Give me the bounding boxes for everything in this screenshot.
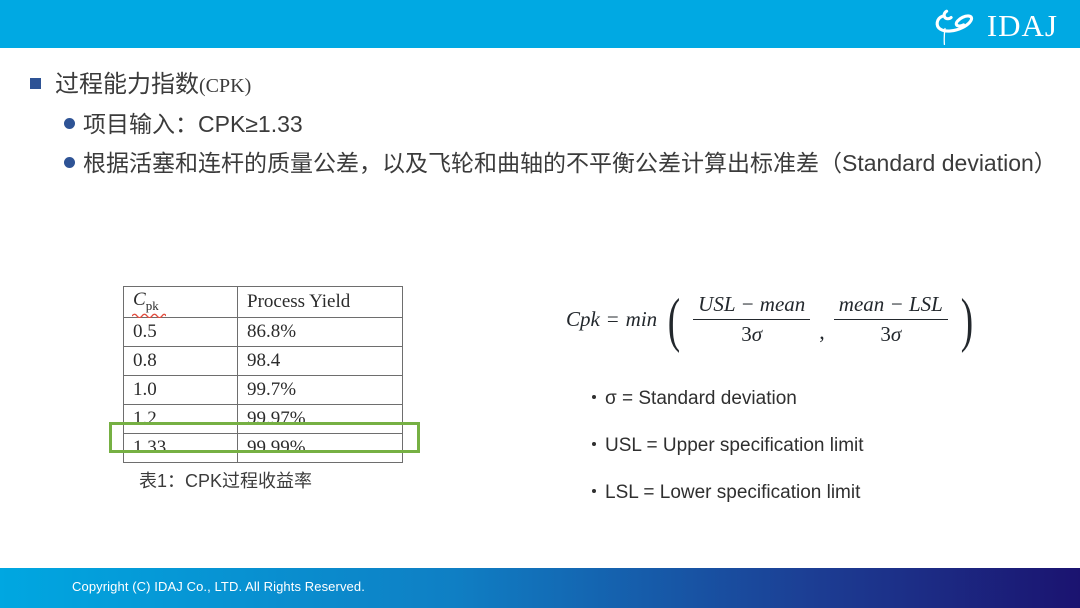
formula-term2-den-sigma: σ <box>891 322 901 346</box>
round-bullet-icon <box>64 157 75 168</box>
table-header-cpk: Cpk <box>124 287 238 318</box>
bullet-level1-label: 过程能力指数(CPK) <box>55 70 251 100</box>
formula-fraction-2: mean − LSL 3σ <box>834 292 948 347</box>
idaj-logo: IDAJ <box>933 6 1058 46</box>
cell-cpk-2: 0.8 <box>124 346 238 375</box>
table-row: 1.2 99.97% <box>124 404 403 433</box>
bullet-level2-label-2: 根据活塞和连杆的质量公差，以及飞轮和曲轴的不平衡公差计算出标准差（Standar… <box>83 147 1057 180</box>
formula-term1-den-sigma: σ <box>752 322 762 346</box>
legend-item-lsl: LSL = Lower specification limit <box>592 482 864 504</box>
logo-wordmark: IDAJ <box>987 10 1058 43</box>
table-row: 1.0 99.7% <box>124 375 403 404</box>
header-bar <box>0 0 1080 48</box>
legend-label-lsl: LSL = Lower specification limit <box>605 482 860 504</box>
cell-yield-3: 99.7% <box>238 375 403 404</box>
bullet-list: 过程能力指数(CPK) 项目输入：CPK≥1.33 根据活塞和连杆的质量公差，以… <box>30 70 1060 187</box>
legend-item-usl: USL = Upper specification limit <box>592 435 864 457</box>
formula-legend: σ = Standard deviation USL = Upper speci… <box>592 388 864 529</box>
cell-yield-4: 99.97% <box>238 404 403 433</box>
square-bullet-icon <box>30 78 41 89</box>
table-header-row: Cpk Process Yield <box>124 287 403 318</box>
formula-comma: , <box>819 319 825 347</box>
cpk-formula: Cpk = min ( USL − mean 3σ , mean − LSL 3… <box>566 292 977 347</box>
bullet-level1-text: 过程能力指数 <box>55 71 199 98</box>
cell-yield-2: 98.4 <box>238 346 403 375</box>
legend-label-sigma: σ = Standard deviation <box>605 388 797 410</box>
formula-term2-denominator: 3σ <box>880 320 901 347</box>
legend-item-sigma: σ = Standard deviation <box>592 388 864 410</box>
bullet-level2-item-1: 项目输入：CPK≥1.33 <box>64 108 1060 141</box>
bullet-level2-label-1: 项目输入：CPK≥1.33 <box>83 108 303 141</box>
slide-canvas: IDAJ 过程能力指数(CPK) 项目输入：CPK≥1.33 根据活塞和连杆的质… <box>0 0 1080 608</box>
small-bullet-icon <box>592 395 596 399</box>
formula-term1-den-num: 3 <box>741 322 752 346</box>
cpk-symbol-subscript: pk <box>146 298 159 313</box>
cell-cpk-1: 0.5 <box>124 317 238 346</box>
bullet-level1: 过程能力指数(CPK) <box>30 70 1060 100</box>
table-row: 1.33 99.99% <box>124 433 403 462</box>
formula-term1-denominator: 3σ <box>741 320 762 347</box>
bullet-level1-paren: (CPK) <box>199 75 251 97</box>
formula-fraction-1: USL − mean 3σ <box>693 292 810 347</box>
round-bullet-icon <box>64 118 75 129</box>
table-row: 0.5 86.8% <box>124 317 403 346</box>
formula-term1-numerator: USL − mean <box>693 292 810 319</box>
small-bullet-icon <box>592 489 596 493</box>
cpk-symbol: Cpk <box>133 289 159 315</box>
legend-label-usl: USL = Upper specification limit <box>605 435 864 457</box>
footer-bar: Copyright (C) IDAJ Co., LTD. All Rights … <box>0 568 1080 608</box>
cpk-yield-table: Cpk Process Yield 0.5 86.8% 0.8 98.4 <box>123 286 403 463</box>
cell-yield-1: 86.8% <box>238 317 403 346</box>
small-bullet-icon <box>592 442 596 446</box>
cpk-symbol-base: C <box>133 289 146 310</box>
formula-min: min <box>626 307 658 332</box>
table-caption: 表1：CPK过程收益率 <box>139 467 312 493</box>
formula-equals: = <box>607 307 619 332</box>
formula-open-paren: ( <box>668 299 680 342</box>
table-row: 0.8 98.4 <box>124 346 403 375</box>
cell-yield-5: 99.99% <box>238 433 403 462</box>
spellcheck-squiggle-icon <box>132 312 166 318</box>
copyright-text: Copyright (C) IDAJ Co., LTD. All Rights … <box>72 579 365 594</box>
bullet-level2-item-2: 根据活塞和连杆的质量公差，以及飞轮和曲轴的不平衡公差计算出标准差（Standar… <box>64 147 1060 180</box>
cell-cpk-3: 1.0 <box>124 375 238 404</box>
formula-close-paren: ) <box>961 299 973 342</box>
cell-cpk-5: 1.33 <box>124 433 238 462</box>
cell-cpk-4: 1.2 <box>124 404 238 433</box>
table-header-yield: Process Yield <box>238 287 403 318</box>
formula-term2-den-num: 3 <box>880 322 891 346</box>
idaj-swoosh-logo-icon <box>933 7 979 45</box>
formula-term2-numerator: mean − LSL <box>834 292 948 319</box>
formula-lhs: Cpk <box>566 307 600 332</box>
